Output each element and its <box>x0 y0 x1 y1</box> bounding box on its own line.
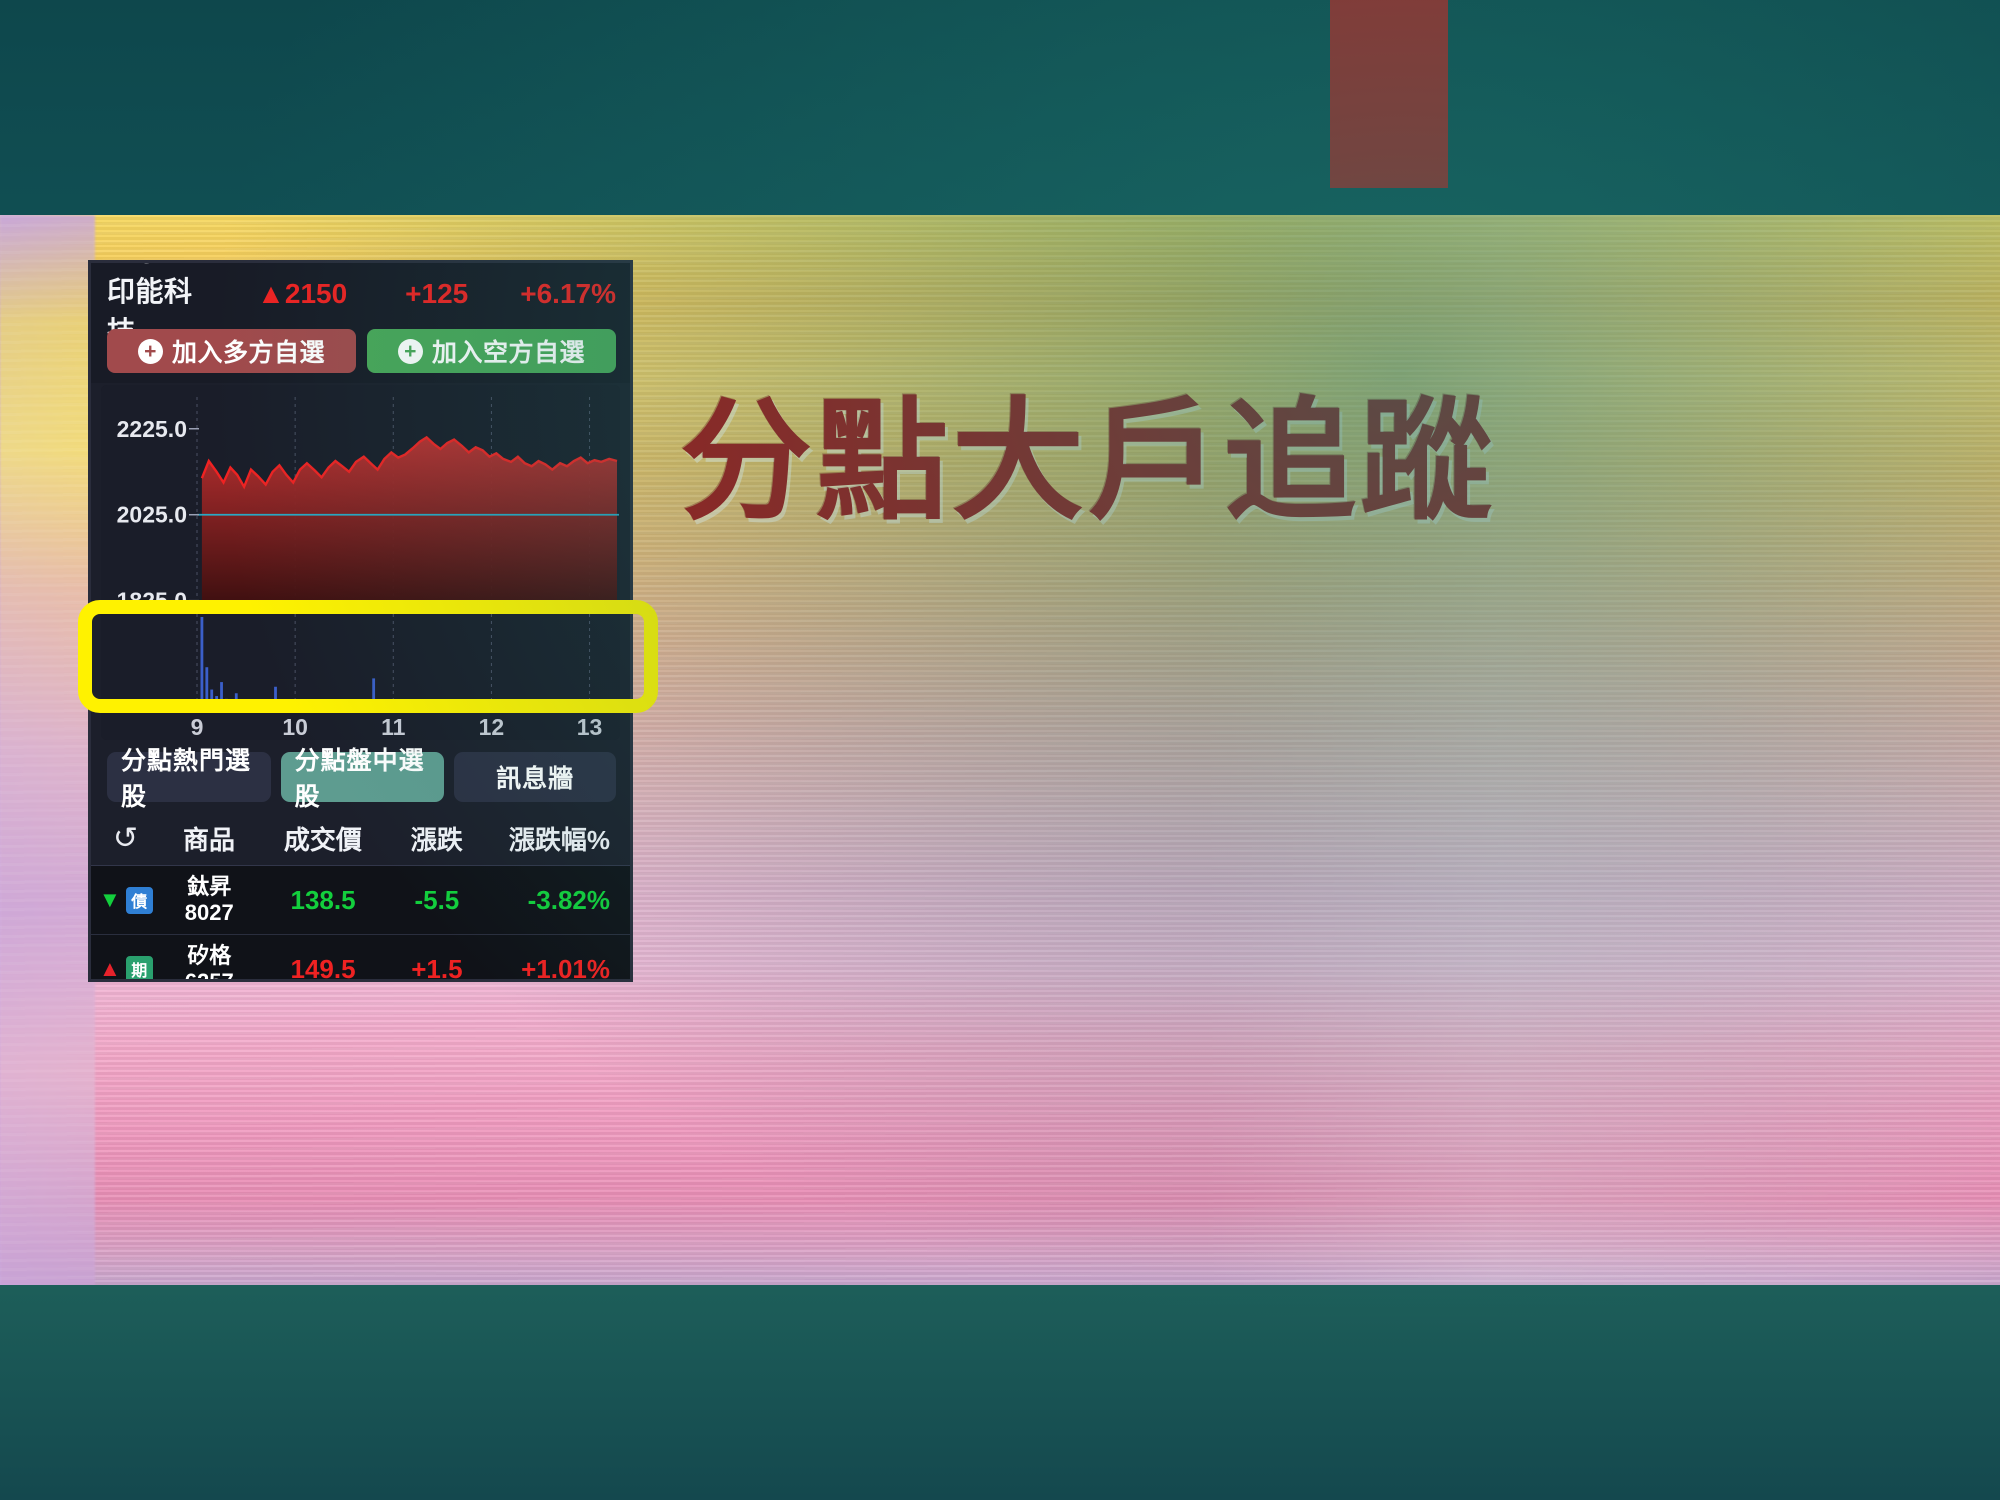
price-cell: 138.5 <box>266 885 381 916</box>
table-row[interactable]: ▼ 債 鈦昇 8027 138.5 -5.5 -3.82% <box>91 866 630 935</box>
tab-bar: 分點熱門選股 分點盤中選股 訊息牆 <box>91 740 630 812</box>
page-title: 分點大戶追蹤 <box>680 355 1496 546</box>
direction-cell: ▲ 期 <box>99 956 153 983</box>
stock-code: 6257 <box>153 969 266 982</box>
column-header-change-pct: 漲跌幅% <box>493 820 616 857</box>
table-header-row: ↻ 商品 成交價 漲跌 漲跌幅% <box>91 812 630 866</box>
change-pct-cell: +1.01% <box>493 954 616 983</box>
arrow-down-icon: ▼ <box>99 889 121 911</box>
refresh-icon: ↻ <box>113 821 138 856</box>
add-short-watchlist-button[interactable]: + 加入空方自選 <box>367 329 616 373</box>
slide-background: 分點大戶追蹤 7734印能科技 ▲2150 +125 +6.17% + 加入多方… <box>0 0 2000 1500</box>
ticker-price: ▲2150 <box>257 278 347 310</box>
refresh-button[interactable]: ↻ <box>99 821 153 856</box>
tab-intraday-picks[interactable]: 分點盤中選股 <box>281 752 445 802</box>
add-short-label: 加入空方自選 <box>432 333 585 369</box>
plus-circle-icon: + <box>398 339 423 364</box>
column-header-price: 成交價 <box>266 820 381 857</box>
price-cell: 149.5 <box>266 954 381 983</box>
band-left-fringe <box>0 215 95 1285</box>
ticker-change: +125 <box>405 278 468 310</box>
product-name-cell: 矽格 6257 <box>153 943 266 982</box>
svg-text:2025.0: 2025.0 <box>117 502 187 528</box>
tab-message-wall[interactable]: 訊息牆 <box>454 752 616 802</box>
type-badge-icon: 債 <box>126 887 153 914</box>
direction-cell: ▼ 債 <box>99 887 153 914</box>
ticker-change-pct: +6.17% <box>520 278 616 310</box>
svg-text:2225.0: 2225.0 <box>117 416 187 442</box>
table-row[interactable]: ▲ 期 矽格 6257 149.5 +1.5 +1.01% <box>91 935 630 982</box>
stock-app-panel: 7734印能科技 ▲2150 +125 +6.17% + 加入多方自選 + 加入… <box>88 260 633 982</box>
stock-name: 矽格 <box>187 943 231 968</box>
svg-text:12: 12 <box>479 714 505 740</box>
change-pct-cell: -3.82% <box>493 885 616 916</box>
column-header-change: 漲跌 <box>380 820 493 857</box>
decorative-red-bar <box>1330 0 1448 188</box>
svg-text:10: 10 <box>282 714 308 740</box>
stock-name: 鈦昇 <box>187 874 231 899</box>
svg-text:1825.0: 1825.0 <box>117 588 187 614</box>
column-header-product: 商品 <box>153 820 266 857</box>
svg-text:9: 9 <box>191 714 204 740</box>
stock-code: 8027 <box>153 900 266 926</box>
tab-label: 分點盤中選股 <box>295 741 431 813</box>
type-badge-icon: 期 <box>126 956 153 983</box>
add-long-label: 加入多方自選 <box>172 333 325 369</box>
tab-label: 訊息牆 <box>496 759 574 795</box>
change-cell: +1.5 <box>380 954 493 983</box>
plus-circle-icon: + <box>138 339 163 364</box>
svg-text:13: 13 <box>577 714 603 740</box>
tab-hot-picks[interactable]: 分點熱門選股 <box>107 752 271 802</box>
ticker-header[interactable]: 7734印能科技 ▲2150 +125 +6.17% <box>91 263 630 325</box>
price-chart-svg: 2225.02025.01825.0 910111213 <box>101 385 620 740</box>
add-long-watchlist-button[interactable]: + 加入多方自選 <box>107 329 356 373</box>
tab-label: 分點熱門選股 <box>121 741 257 813</box>
arrow-up-icon: ▲ <box>99 958 121 980</box>
price-chart[interactable]: 2225.02025.01825.0 910111213 <box>101 385 620 740</box>
change-cell: -5.5 <box>380 885 493 916</box>
svg-text:11: 11 <box>381 714 406 740</box>
watchlist-button-row: + 加入多方自選 + 加入空方自選 <box>91 325 630 383</box>
product-name-cell: 鈦昇 8027 <box>153 874 266 926</box>
